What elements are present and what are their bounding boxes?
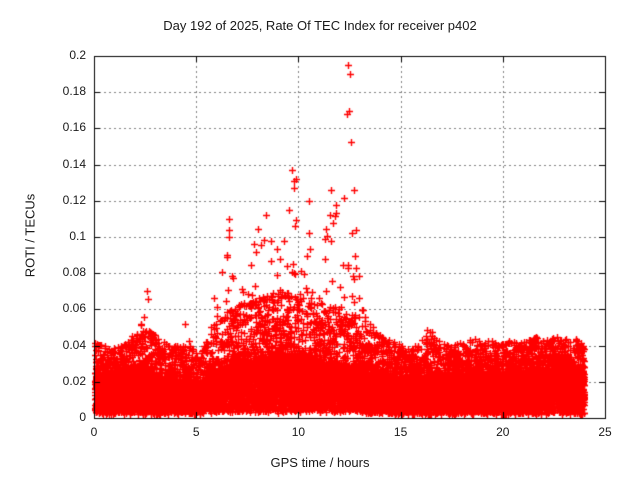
y-tick-label: 0.02 [26, 374, 86, 388]
y-tick-label: 0.06 [26, 301, 86, 315]
y-tick-label: 0.16 [26, 120, 86, 134]
y-tick-label: 0.08 [26, 265, 86, 279]
y-tick-label: 0 [26, 410, 86, 424]
x-axis-title: GPS time / hours [0, 455, 640, 470]
y-tick-label: 0.04 [26, 338, 86, 352]
x-tick-label: 5 [176, 425, 216, 439]
x-tick-label: 25 [585, 425, 625, 439]
chart-figure: Day 192 of 2025, Rate Of TEC Index for r… [0, 0, 640, 480]
x-tick-label: 20 [483, 425, 523, 439]
y-tick-label: 0.1 [26, 229, 86, 243]
y-tick-label: 0.14 [26, 157, 86, 171]
x-tick-label: 0 [74, 425, 114, 439]
scatter-plot-canvas [0, 0, 640, 480]
y-tick-label: 0.18 [26, 84, 86, 98]
y-tick-label: 0.12 [26, 193, 86, 207]
x-tick-label: 10 [278, 425, 318, 439]
y-tick-label: 0.2 [26, 48, 86, 62]
x-tick-label: 15 [381, 425, 421, 439]
